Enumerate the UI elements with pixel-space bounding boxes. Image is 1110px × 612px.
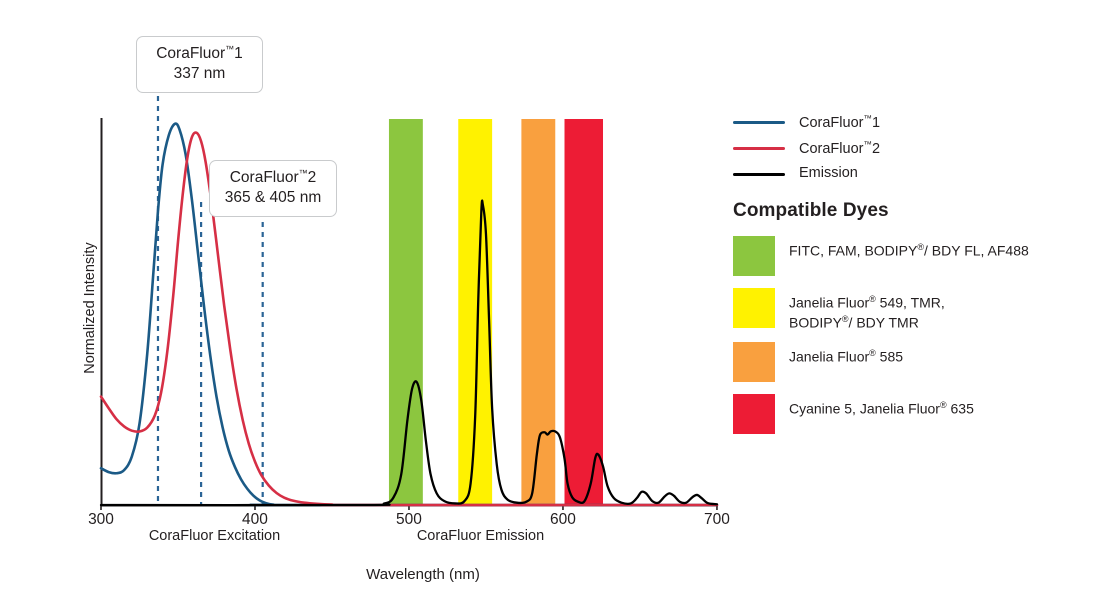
registered-mark: ® [869, 348, 876, 358]
emission-band [458, 119, 492, 505]
dye-label: Janelia Fluor® 585 [789, 347, 903, 367]
x-axis-title: Wavelength (nm) [303, 566, 543, 583]
x-sublabel-emission: CoraFluor Emission [403, 528, 558, 544]
y-axis-title: Normalized Intensity [82, 208, 98, 408]
dye-color-swatch [733, 288, 775, 328]
dye-color-swatch [733, 236, 775, 276]
chart-area: CoraFluor™1 337 nm CoraFluor™2 365 & 405… [0, 0, 730, 612]
dye-color-swatch [733, 342, 775, 382]
legend-series-label: Emission [799, 165, 858, 181]
x-tick-label: 500 [379, 511, 439, 529]
legend-series-label: CoraFluor™1 [799, 113, 880, 131]
x-tick-label: 300 [71, 511, 131, 529]
legend-series-label: CoraFluor™2 [799, 139, 880, 157]
legend-line-swatch [733, 173, 785, 176]
emission-band [565, 119, 603, 505]
registered-mark: ® [940, 400, 947, 410]
callout-1-line2: 337 nm [147, 64, 252, 84]
callout-corafluor1: CoraFluor™1 337 nm [136, 36, 263, 93]
compatible-dyes-heading: Compatible Dyes [733, 200, 889, 222]
legend-line-swatch [733, 147, 785, 150]
legend-panel: CoraFluor™1CoraFluor™2Emission Compatibl… [730, 0, 1110, 612]
registered-mark: ® [869, 294, 876, 304]
trademark-mark: ™ [863, 139, 872, 149]
dye-label: Cyanine 5, Janelia Fluor® 635 [789, 399, 974, 419]
dye-color-swatch [733, 394, 775, 434]
callout-2-line2: 365 & 405 nm [220, 188, 326, 208]
legend-line-swatch [733, 121, 785, 124]
emission-band [389, 119, 423, 505]
x-sublabel-excitation: CoraFluor Excitation [137, 528, 292, 544]
callout-1-line1: CoraFluor™1 [156, 45, 243, 62]
registered-mark: ® [917, 242, 924, 252]
x-tick-label: 600 [533, 511, 593, 529]
trademark-mark: ™ [863, 113, 872, 123]
registered-mark: ® [842, 314, 849, 324]
callout-corafluor2: CoraFluor™2 365 & 405 nm [209, 160, 337, 217]
dye-label: FITC, FAM, BODIPY®/ BDY FL, AF488 [789, 241, 1029, 261]
x-tick-label: 400 [225, 511, 285, 529]
dye-label: Janelia Fluor® 549, TMR,BODIPY®/ BDY TMR [789, 293, 945, 333]
callout-2-line1: CoraFluor™2 [230, 169, 317, 186]
spectral-chart-page: CoraFluor™1 337 nm CoraFluor™2 365 & 405… [0, 0, 1110, 612]
